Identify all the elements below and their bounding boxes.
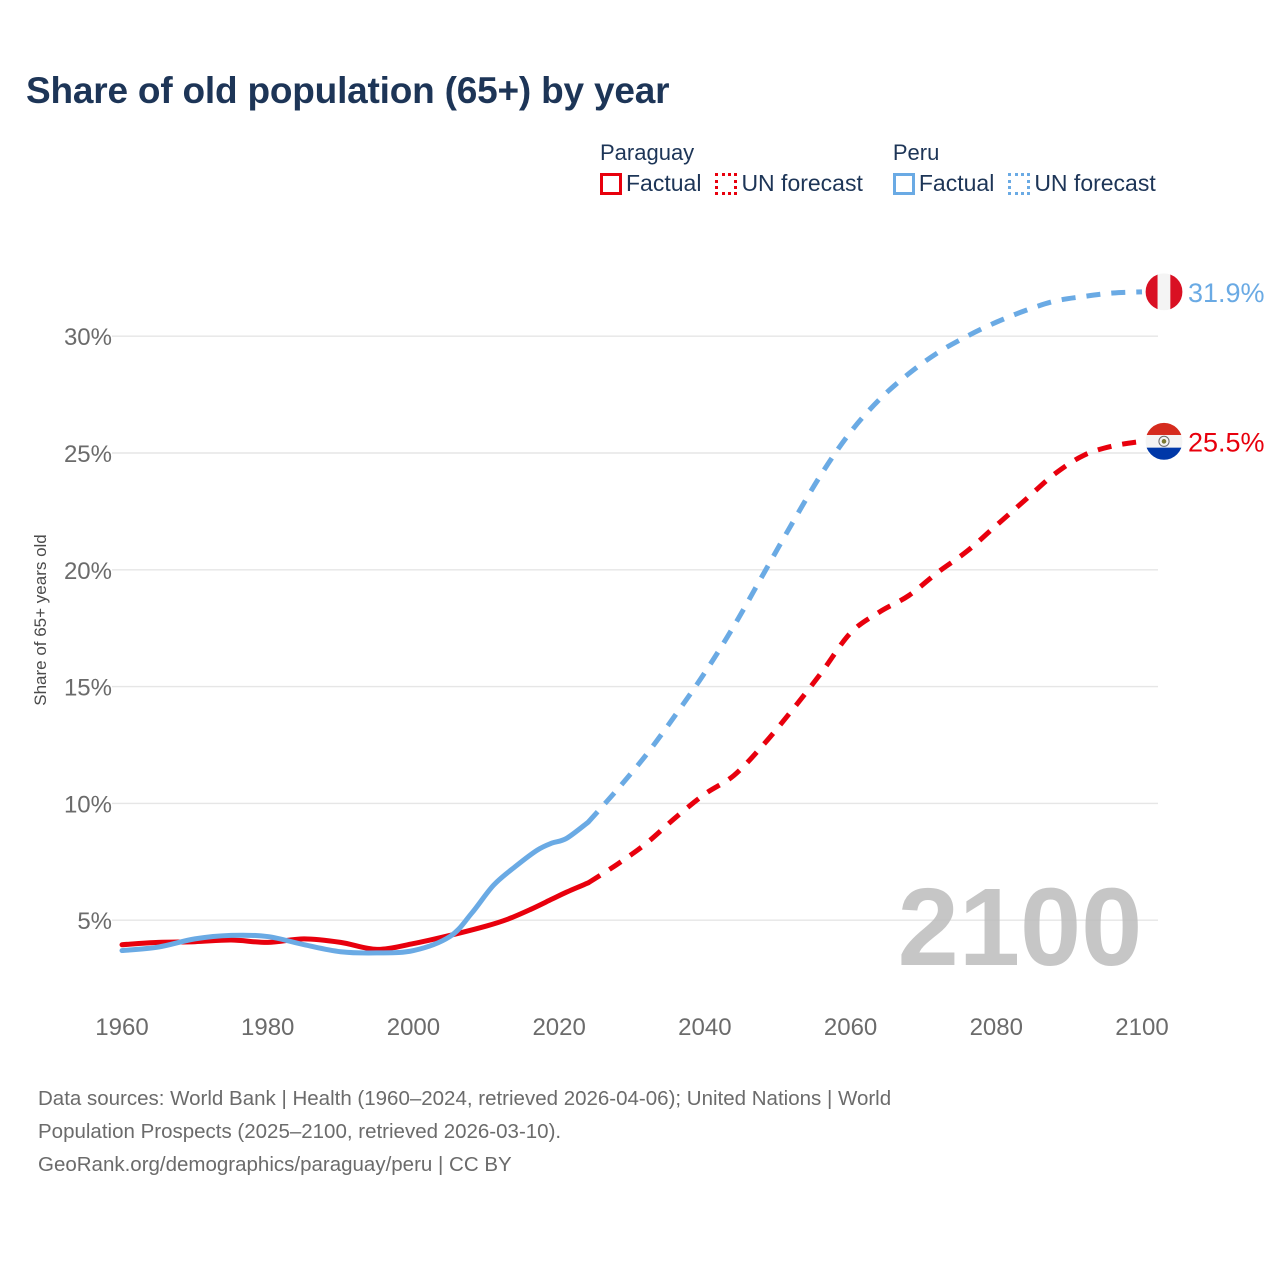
watermark-text: 2100	[898, 866, 1143, 989]
x-tick-label: 1960	[95, 1014, 148, 1041]
y-axis-tick-labels: 5%10%15%20%25%30%	[64, 324, 112, 935]
footer-sources: Data sources: World Bank | Health (1960–…	[38, 1082, 1238, 1182]
flag-marker-peru	[1145, 273, 1183, 311]
y-axis-title-text: Share of 65+ years old	[31, 534, 50, 706]
footer-line-1: Data sources: World Bank | Health (1960–…	[38, 1082, 1238, 1115]
end-label-peru: 31.9%	[1188, 278, 1265, 308]
x-tick-label: 2040	[678, 1014, 731, 1041]
chart-page: Share of old population (65+) by year Pa…	[0, 0, 1280, 1280]
y-tick-label: 25%	[64, 441, 112, 468]
x-tick-label: 2020	[532, 1014, 585, 1041]
x-tick-label: 1980	[241, 1014, 294, 1041]
x-axis-tick-labels: 19601980200020202040206020802100	[95, 1014, 1168, 1041]
end-label-paraguay: 25.5%	[1188, 427, 1265, 457]
y-tick-label: 30%	[64, 324, 112, 351]
plot-area: 2100 5%10%15%20%25%30% 19601980200020202…	[0, 0, 1280, 1060]
footer-line-3: GeoRank.org/demographics/paraguay/peru |…	[38, 1148, 1238, 1181]
y-tick-label: 10%	[64, 791, 112, 818]
y-tick-label: 20%	[64, 558, 112, 585]
y-axis-title: Share of 65+ years old	[31, 534, 50, 706]
watermark-year: 2100	[898, 866, 1143, 989]
x-tick-label: 2060	[824, 1014, 877, 1041]
series-line-factual-peru	[122, 822, 588, 953]
y-tick-label: 5%	[77, 908, 112, 935]
series-line-forecast-peru	[588, 292, 1142, 822]
gridlines	[112, 336, 1158, 920]
flag-marker-paraguay	[1145, 422, 1183, 460]
series-line-forecast-paraguay	[588, 441, 1142, 883]
y-tick-label: 15%	[64, 675, 112, 702]
line-chart: 2100 5%10%15%20%25%30% 19601980200020202…	[0, 0, 1280, 1060]
footer-line-2: Population Prospects (2025–2100, retriev…	[38, 1115, 1238, 1148]
x-tick-label: 2000	[387, 1014, 440, 1041]
x-tick-label: 2080	[970, 1014, 1023, 1041]
endpoint-markers: 31.9%25.5%	[1145, 273, 1265, 461]
x-tick-label: 2100	[1115, 1014, 1168, 1041]
series-lines	[122, 292, 1142, 953]
